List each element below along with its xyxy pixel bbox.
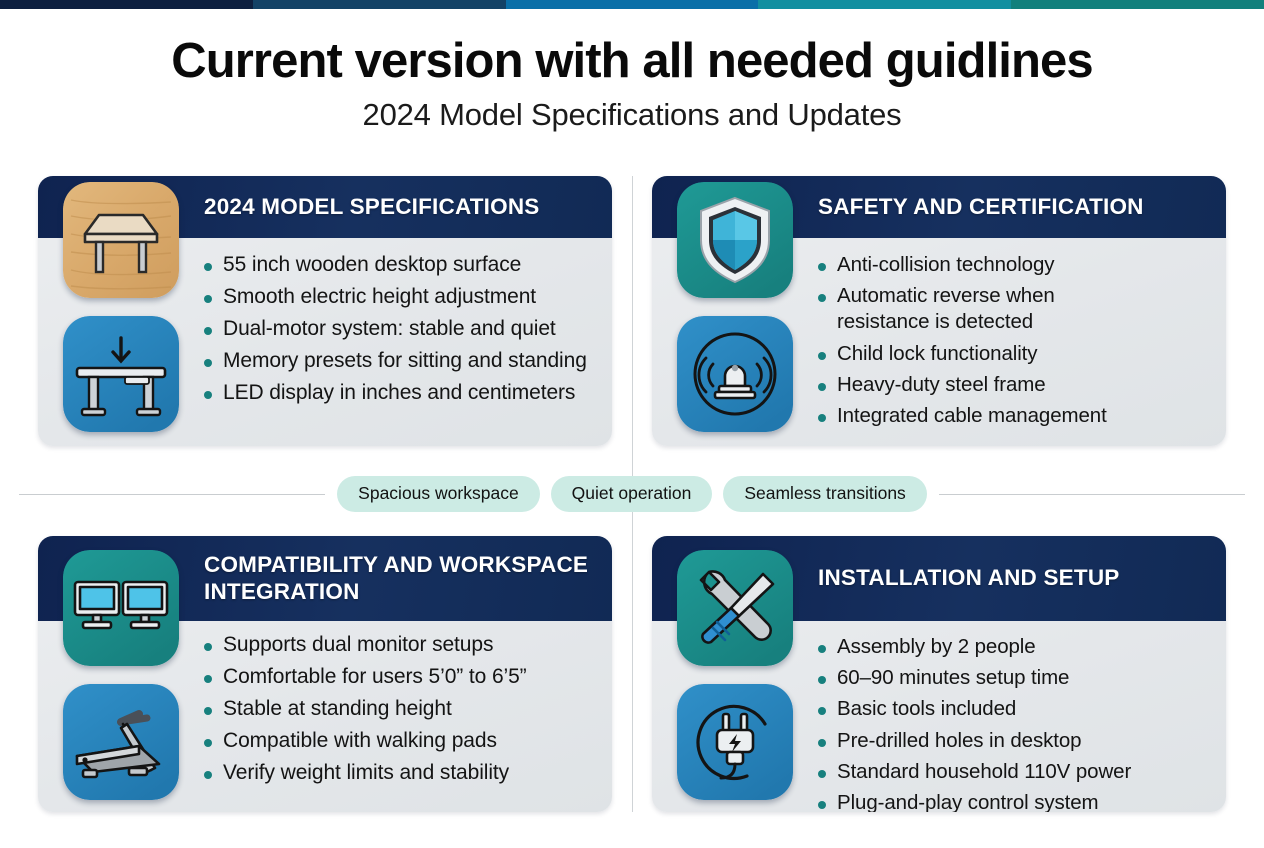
bullet-dot-icon — [204, 643, 212, 651]
list-item-label: Child lock functionality — [837, 341, 1037, 367]
list-item: Verify weight limits and stability — [204, 760, 598, 787]
page-subtitle: 2024 Model Specifications and Updates — [0, 96, 1264, 133]
list-item-label: Pre-drilled holes in desktop — [837, 728, 1081, 754]
list-item-label: 55 inch wooden desktop surface — [223, 252, 521, 279]
infographic-page: Current version with all needed guidline… — [0, 0, 1264, 848]
card-safety-certification: SAFETY AND CERTIFICATION — [652, 176, 1226, 446]
list-item: Assembly by 2 people — [818, 634, 1212, 660]
accent-segment-3 — [506, 0, 759, 9]
bullet-dot-icon — [818, 707, 826, 715]
pill-badge[interactable]: Quiet operation — [551, 476, 713, 513]
bullet-dot-icon — [204, 327, 212, 335]
bullet-dot-icon — [818, 352, 826, 360]
list-item: Dual-motor system: stable and quiet — [204, 316, 598, 343]
shield-icon — [677, 182, 793, 298]
bullet-dot-icon — [818, 676, 826, 684]
list-item: Comfortable for users 5’0” to 6’5” — [204, 664, 598, 691]
list-item-label: LED display in inches and centimeters — [223, 380, 575, 407]
card-title: INSTALLATION AND SETUP — [818, 565, 1119, 592]
list-item: Supports dual monitor setups — [204, 632, 598, 659]
bullet-dot-icon — [818, 263, 826, 271]
list-item: Pre-drilled holes in desktop — [818, 728, 1212, 754]
list-item-label: Automatic reverse when resistance is det… — [837, 283, 1137, 335]
list-item-label: Stable at standing height — [223, 696, 452, 723]
bullet-dot-icon — [204, 771, 212, 779]
list-item-label: 60–90 minutes setup time — [837, 665, 1069, 691]
list-item: Integrated cable management — [818, 403, 1212, 429]
bullet-dot-icon — [204, 359, 212, 367]
list-item: Compatible with walking pads — [204, 728, 598, 755]
list-item: Heavy-duty steel frame — [818, 372, 1212, 398]
pill-badge[interactable]: Seamless transitions — [723, 476, 926, 513]
list-item-label: Standard household 110V power — [837, 759, 1131, 785]
accent-segment-2 — [253, 0, 506, 9]
bullet-dot-icon — [204, 263, 212, 271]
list-item-label: Smooth electric height adjustment — [223, 284, 536, 311]
bullet-dot-icon — [818, 801, 826, 809]
list-item: 55 inch wooden desktop surface — [204, 252, 598, 279]
bullet-list: Anti-collision technology Automatic reve… — [818, 252, 1212, 434]
list-item-label: Verify weight limits and stability — [223, 760, 509, 787]
card-installation-setup: INSTALLATION AND SETUP — [652, 536, 1226, 812]
list-item-label: Basic tools included — [837, 696, 1016, 722]
bullet-dot-icon — [818, 414, 826, 422]
wrench-screwdriver-icon — [677, 550, 793, 666]
card-compatibility-workspace: COMPATIBILITY AND WORKSPACE INTEGRATION — [38, 536, 612, 812]
accent-segment-1 — [0, 0, 253, 9]
card-title: 2024 MODEL SPECIFICATIONS — [204, 194, 540, 221]
bullet-dot-icon — [204, 295, 212, 303]
alarm-siren-icon — [677, 316, 793, 432]
bullet-dot-icon — [818, 294, 826, 302]
divider-left — [19, 494, 325, 495]
power-plug-icon — [677, 684, 793, 800]
list-item-label: Integrated cable management — [837, 403, 1107, 429]
list-item-label: Heavy-duty steel frame — [837, 372, 1046, 398]
pill-badge[interactable]: Spacious workspace — [337, 476, 540, 513]
bullet-dot-icon — [818, 770, 826, 778]
list-item: Smooth electric height adjustment — [204, 284, 598, 311]
list-item: LED display in inches and centimeters — [204, 380, 598, 407]
list-item-label: Memory presets for sitting and standing — [223, 348, 587, 375]
list-item: 60–90 minutes setup time — [818, 665, 1212, 691]
list-item: Automatic reverse when resistance is det… — [818, 283, 1212, 335]
list-item: Basic tools included — [818, 696, 1212, 722]
list-item-label: Anti-collision technology — [837, 252, 1054, 278]
pill-group: Spacious workspace Quiet operation Seaml… — [337, 476, 927, 513]
list-item: Stable at standing height — [204, 696, 598, 723]
list-item: Plug-and-play control system — [818, 790, 1212, 812]
bullet-list: Assembly by 2 people 60–90 minutes setup… — [818, 634, 1212, 812]
list-item: Standard household 110V power — [818, 759, 1212, 785]
wooden-desktop-icon — [63, 182, 179, 298]
highlights-row: Spacious workspace Quiet operation Seaml… — [0, 472, 1264, 516]
bullet-dot-icon — [204, 391, 212, 399]
treadmill-icon — [63, 684, 179, 800]
card-title: COMPATIBILITY AND WORKSPACE INTEGRATION — [204, 552, 600, 605]
height-adjustable-desk-icon — [63, 316, 179, 432]
list-item-label: Comfortable for users 5’0” to 6’5” — [223, 664, 527, 691]
page-title: Current version with all needed guidline… — [0, 34, 1264, 90]
card-model-specifications: 2024 MODEL SPECIFICATIONS — [38, 176, 612, 446]
bullet-dot-icon — [204, 739, 212, 747]
title-block: Current version with all needed guidline… — [0, 34, 1264, 133]
bullet-dot-icon — [818, 383, 826, 391]
list-item-label: Compatible with walking pads — [223, 728, 497, 755]
bullet-dot-icon — [204, 675, 212, 683]
bullet-list: 55 inch wooden desktop surface Smooth el… — [204, 252, 598, 411]
bullet-list: Supports dual monitor setups Comfortable… — [204, 632, 598, 791]
accent-segment-5 — [1011, 0, 1264, 9]
list-item: Anti-collision technology — [818, 252, 1212, 278]
list-item-label: Plug-and-play control system — [837, 790, 1099, 812]
divider-right — [939, 494, 1245, 495]
accent-segment-4 — [758, 0, 1011, 9]
dual-monitors-icon — [63, 550, 179, 666]
card-title: SAFETY AND CERTIFICATION — [818, 194, 1144, 221]
list-item: Child lock functionality — [818, 341, 1212, 367]
list-item-label: Dual-motor system: stable and quiet — [223, 316, 556, 343]
list-item-label: Supports dual monitor setups — [223, 632, 493, 659]
list-item-label: Assembly by 2 people — [837, 634, 1036, 660]
bullet-dot-icon — [818, 739, 826, 747]
list-item: Memory presets for sitting and standing — [204, 348, 598, 375]
bullet-dot-icon — [204, 707, 212, 715]
top-accent-bar — [0, 0, 1264, 9]
bullet-dot-icon — [818, 645, 826, 653]
